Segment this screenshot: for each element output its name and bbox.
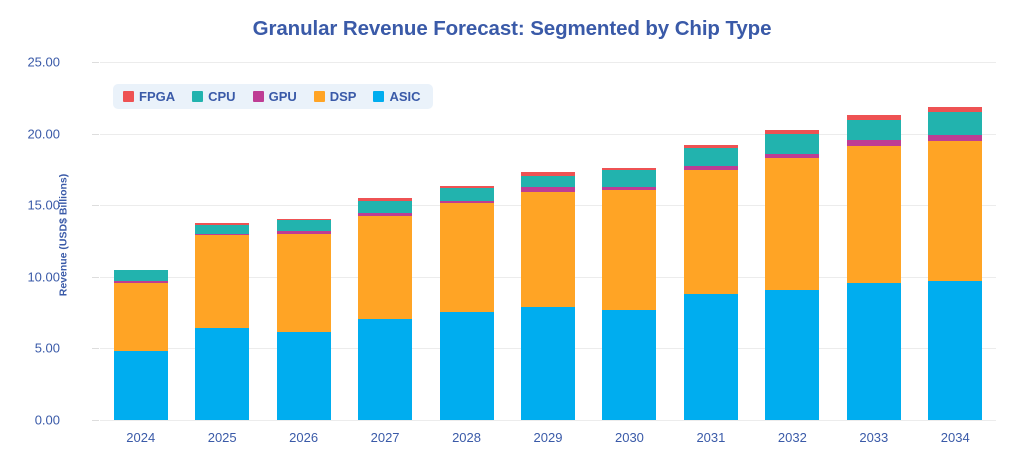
legend-swatch-icon [123, 91, 134, 102]
x-axis-tick-label: 2029 [534, 430, 563, 445]
legend-label: CPU [208, 90, 235, 103]
x-axis-tick-label: 2033 [859, 430, 888, 445]
x-axis-tick-label: 2031 [696, 430, 725, 445]
bar-segment-asic[interactable] [277, 332, 331, 420]
bar-segment-cpu[interactable] [928, 112, 982, 135]
bar-stack[interactable] [684, 145, 738, 420]
x-axis-tick-label: 2032 [778, 430, 807, 445]
legend-label: DSP [330, 90, 357, 103]
plot-area: 0.005.0010.0015.0020.0025.00 20242025202… [100, 62, 996, 420]
bar-segment-dsp[interactable] [195, 235, 249, 327]
legend-label: FPGA [139, 90, 175, 103]
bar-stack[interactable] [521, 172, 575, 420]
legend-swatch-icon [373, 91, 384, 102]
y-axis-tick-mark [92, 134, 99, 135]
y-axis-tick-mark [92, 205, 99, 206]
bar-stack[interactable] [440, 186, 494, 420]
y-axis-tick-label: 10.00 [0, 269, 60, 284]
bar-stack[interactable] [195, 223, 249, 420]
x-axis-tick-label: 2034 [941, 430, 970, 445]
bar-segment-asic[interactable] [602, 310, 656, 420]
bar-segment-asic[interactable] [847, 283, 901, 420]
bar-segment-dsp[interactable] [928, 141, 982, 281]
bar-segment-cpu[interactable] [684, 148, 738, 166]
bar-segment-cpu[interactable] [195, 225, 249, 234]
legend-item-gpu[interactable]: GPU [253, 90, 297, 103]
bar-segment-cpu[interactable] [847, 120, 901, 141]
bar-segment-dsp[interactable] [358, 216, 412, 320]
bar-segment-dsp[interactable] [521, 192, 575, 307]
gridline [100, 420, 996, 421]
x-axis-tick-label: 2030 [615, 430, 644, 445]
x-axis-tick-label: 2026 [289, 430, 318, 445]
bar-segment-cpu[interactable] [521, 176, 575, 187]
bar-segment-cpu[interactable] [277, 220, 331, 231]
legend-item-cpu[interactable]: CPU [192, 90, 235, 103]
x-axis-tick-label: 2024 [126, 430, 155, 445]
y-axis-tick-mark [92, 348, 99, 349]
y-axis-tick-mark [92, 420, 99, 421]
bar-segment-cpu[interactable] [114, 270, 168, 281]
y-axis-tick-mark [92, 277, 99, 278]
chart-container: Granular Revenue Forecast: Segmented by … [0, 0, 1024, 469]
bar-segment-dsp[interactable] [114, 283, 168, 351]
x-axis-tick-label: 2025 [208, 430, 237, 445]
bar-segment-asic[interactable] [114, 351, 168, 420]
bar-stack[interactable] [602, 168, 656, 420]
bar-stack[interactable] [358, 198, 412, 420]
bar-segment-asic[interactable] [440, 312, 494, 420]
bar-segment-dsp[interactable] [602, 190, 656, 310]
legend-label: ASIC [389, 90, 420, 103]
bar-segment-dsp[interactable] [765, 158, 819, 290]
chart-legend: FPGACPUGPUDSPASIC [113, 84, 433, 109]
y-axis-tick-label: 0.00 [0, 413, 60, 428]
y-axis-tick-label: 5.00 [0, 341, 60, 356]
legend-swatch-icon [192, 91, 203, 102]
gridline [100, 62, 996, 63]
bar-segment-cpu[interactable] [765, 134, 819, 153]
bar-stack[interactable] [114, 270, 168, 420]
bar-stack[interactable] [928, 107, 982, 420]
bar-stack[interactable] [847, 115, 901, 420]
bar-segment-asic[interactable] [928, 281, 982, 420]
legend-item-fpga[interactable]: FPGA [123, 90, 175, 103]
bar-segment-cpu[interactable] [440, 188, 494, 201]
legend-swatch-icon [314, 91, 325, 102]
bar-segment-dsp[interactable] [440, 203, 494, 312]
legend-label: GPU [269, 90, 297, 103]
x-axis-tick-label: 2027 [371, 430, 400, 445]
legend-swatch-icon [253, 91, 264, 102]
chart-title: Granular Revenue Forecast: Segmented by … [0, 17, 1024, 41]
y-axis-tick-mark [92, 62, 99, 63]
legend-item-dsp[interactable]: DSP [314, 90, 357, 103]
bar-segment-cpu[interactable] [358, 201, 412, 213]
bar-segment-asic[interactable] [684, 294, 738, 420]
y-axis-tick-label: 20.00 [0, 126, 60, 141]
y-axis-tick-label: 25.00 [0, 55, 60, 70]
x-axis-tick-label: 2028 [452, 430, 481, 445]
y-axis-tick-label: 15.00 [0, 198, 60, 213]
bar-segment-asic[interactable] [195, 328, 249, 420]
bar-segment-dsp[interactable] [847, 146, 901, 283]
bar-stack[interactable] [765, 130, 819, 420]
bar-segment-cpu[interactable] [602, 170, 656, 187]
bar-segment-asic[interactable] [358, 319, 412, 420]
bar-segment-dsp[interactable] [277, 234, 331, 331]
bar-stack[interactable] [277, 219, 331, 420]
bar-segment-asic[interactable] [521, 307, 575, 420]
bar-segment-asic[interactable] [765, 290, 819, 420]
legend-item-asic[interactable]: ASIC [373, 90, 420, 103]
bar-segment-dsp[interactable] [684, 170, 738, 294]
